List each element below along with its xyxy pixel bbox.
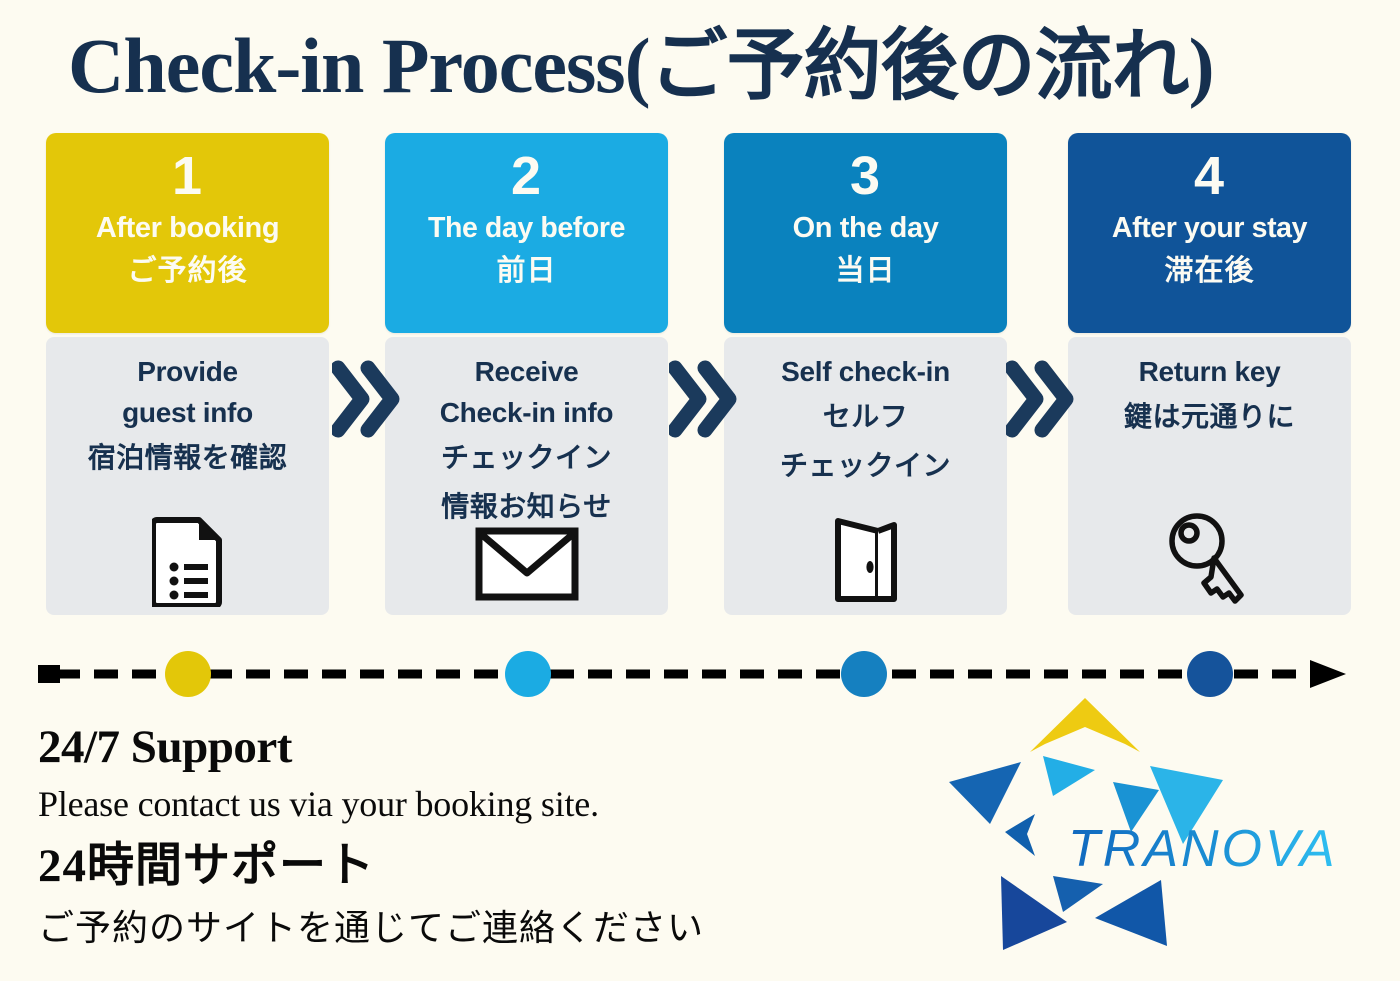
logo-petal-left-inner bbox=[1005, 814, 1035, 856]
arrow-between-step-2-and-3 bbox=[669, 360, 737, 438]
step-card-1: 1 After booking ご予約後 Provide guest info … bbox=[46, 133, 329, 615]
key-icon bbox=[1167, 511, 1253, 607]
step-3-body: Self check-in セルフ チェックイン bbox=[724, 337, 1007, 615]
logo-wordmark: TRANOVA bbox=[1068, 820, 1338, 878]
tranova-logo: TRANOVA bbox=[935, 684, 1355, 974]
timeline-dot-3 bbox=[841, 651, 887, 697]
step-3-title-ja: 当日 bbox=[724, 249, 1007, 293]
step-4-desc-ja-line1: 鍵は元通りに bbox=[1068, 392, 1351, 441]
step-3-icon-wrap bbox=[724, 509, 1007, 605]
step-3-desc-ja-line1: セルフ bbox=[724, 392, 1007, 441]
step-2-body: Receive Check-in info チェックイン 情報お知らせ bbox=[385, 337, 668, 615]
tranova-pinwheel-logo: TRANOVA bbox=[935, 684, 1355, 974]
step-3-number: 3 bbox=[724, 145, 1007, 207]
step-2-title-ja: 前日 bbox=[385, 249, 668, 293]
step-1-desc-en-line1: Provide bbox=[46, 351, 329, 392]
logo-petal-left-outer bbox=[949, 762, 1021, 824]
step-2-title-en: The day before bbox=[385, 207, 668, 249]
open-door-icon bbox=[830, 515, 902, 605]
step-1-number: 1 bbox=[46, 145, 329, 207]
step-2-desc-en-line2: Check-in info bbox=[385, 392, 668, 433]
step-card-2: 2 The day before 前日 Receive Check-in inf… bbox=[385, 133, 668, 615]
step-2-icon-wrap bbox=[385, 505, 668, 601]
step-1-icon-wrap bbox=[46, 511, 329, 607]
step-4-icon-wrap bbox=[1068, 511, 1351, 607]
support-section: 24/7 Support Please contact us via your … bbox=[38, 716, 838, 954]
step-4-body: Return key 鍵は元通りに bbox=[1068, 337, 1351, 615]
step-4-number: 4 bbox=[1068, 145, 1351, 207]
step-1-desc-en-line2: guest info bbox=[46, 392, 329, 433]
arrow-between-step-3-and-4 bbox=[1006, 360, 1074, 438]
timeline-dot-1 bbox=[165, 651, 211, 697]
logo-petal-bottom-right bbox=[1095, 880, 1167, 946]
step-3-desc-ja-line2: チェックイン bbox=[724, 441, 1007, 490]
support-heading-en: 24/7 Support bbox=[38, 716, 838, 778]
step-1-title-ja: ご予約後 bbox=[46, 249, 329, 293]
double-chevron-right-icon bbox=[1006, 360, 1074, 438]
logo-petal-top-yellow bbox=[1030, 698, 1140, 752]
step-1-header: 1 After booking ご予約後 bbox=[46, 133, 329, 333]
page-title: Check-in Process(ご予約後の流れ) bbox=[68, 16, 1368, 116]
step-1-title-en: After booking bbox=[46, 207, 329, 249]
step-2-desc-en-line1: Receive bbox=[385, 351, 668, 392]
step-2-desc-ja-line1: チェックイン bbox=[385, 433, 668, 482]
step-card-4: 4 After your stay 滞在後 Return key 鍵は元通りに bbox=[1068, 133, 1351, 615]
double-chevron-right-icon bbox=[669, 360, 737, 438]
support-heading-ja: 24時間サポート bbox=[38, 830, 838, 902]
step-1-desc-ja-line1: 宿泊情報を確認 bbox=[46, 433, 329, 482]
document-list-icon bbox=[152, 515, 224, 607]
step-3-title-en: On the day bbox=[724, 207, 1007, 249]
arrow-between-step-1-and-2 bbox=[332, 360, 400, 438]
timeline-dot-2 bbox=[505, 651, 551, 697]
support-text-en: Please contact us via your booking site. bbox=[38, 778, 838, 830]
support-text-ja: ご予約のサイトを通じてご連絡ください bbox=[38, 902, 838, 954]
logo-petal-bottom-center bbox=[1053, 876, 1103, 912]
step-4-title-en: After your stay bbox=[1068, 207, 1351, 249]
step-2-number: 2 bbox=[385, 145, 668, 207]
logo-petal-upper-left-inner bbox=[1043, 756, 1095, 796]
step-4-desc-en-line1: Return key bbox=[1068, 351, 1351, 392]
step-4-title-ja: 滞在後 bbox=[1068, 249, 1351, 293]
step-1-body: Provide guest info 宿泊情報を確認 bbox=[46, 337, 329, 615]
step-2-header: 2 The day before 前日 bbox=[385, 133, 668, 333]
step-4-header: 4 After your stay 滞在後 bbox=[1068, 133, 1351, 333]
step-3-header: 3 On the day 当日 bbox=[724, 133, 1007, 333]
step-3-desc-en-line1: Self check-in bbox=[724, 351, 1007, 392]
double-chevron-right-icon bbox=[332, 360, 400, 438]
step-card-3: 3 On the day 当日 Self check-in セルフ チェックイン bbox=[724, 133, 1007, 615]
envelope-icon bbox=[475, 527, 579, 601]
